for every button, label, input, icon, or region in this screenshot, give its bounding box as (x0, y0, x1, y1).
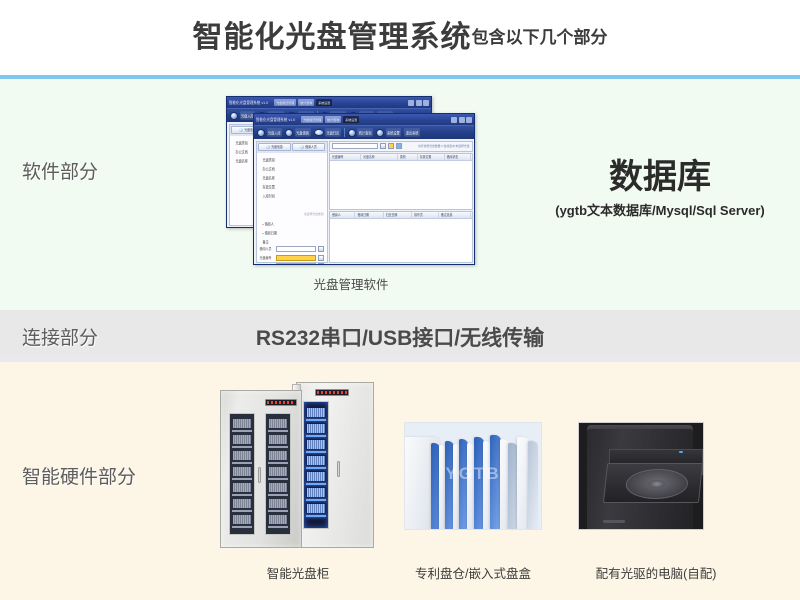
location-field[interactable] (276, 263, 316, 265)
app-window-front[interactable]: 智能化光盘管理系统 v1.0 光盘借还管理 统计查询 系统设置 光盘入库 (253, 113, 475, 265)
toolbar-button-label: 光盘借阅 (295, 128, 311, 136)
database-subtitle: (ygtb文本数据库/Mysql/Sql Server) (520, 200, 800, 219)
list-item[interactable]: 光盘名称 (263, 174, 324, 180)
toolbar-button-disc-borrow[interactable]: 光盘借阅 (285, 129, 310, 137)
window-body: 光盘信息 借阅人员 光盘类别 办公文档 光盘名称 存放位置 入库时间 请选择 (254, 139, 474, 264)
toolbar-button-label: 统计查询 (357, 128, 373, 136)
disc-number-field[interactable] (276, 255, 316, 261)
watermark-text: YGTB (445, 464, 500, 484)
search-icon[interactable] (380, 143, 386, 149)
picker-button[interactable] (318, 263, 324, 265)
borrower-field[interactable] (276, 246, 316, 252)
window-controls (451, 117, 472, 123)
column-header: 操作员 (412, 212, 439, 219)
list-item[interactable]: 入库时间 (263, 193, 324, 199)
disc-tray-unit (528, 441, 538, 529)
optical-drive-tray (603, 463, 703, 503)
window-tab-selected[interactable]: 系统设置 (316, 99, 332, 106)
left-pane-list: 光盘类别 办公文档 光盘名称 存放位置 入库时间 请选择光盘类别 借阅人 借阅日… (257, 153, 327, 245)
gear-icon (376, 129, 384, 137)
window-tab-selected[interactable]: 系统设置 (343, 116, 359, 123)
software-screenshot-stack: 智能化光盘管理系统 v1.0 光盘借还管理 统计查询 系统设置 光盘入库 (226, 96, 476, 268)
form-row: 存放位置 (260, 263, 324, 265)
grid-rows (330, 161, 472, 209)
cabinet-right-body (296, 382, 374, 548)
window-tab[interactable]: 光盘借还管理 (274, 99, 296, 106)
user-icon (300, 145, 304, 149)
window-title-bar: 智能化光盘管理系统 v1.0 光盘借还管理 统计查询 系统设置 (254, 114, 474, 125)
grid-header: 光盘编号 光盘名称 类别 存放位置 借阅状态 (330, 154, 472, 161)
filter-icon[interactable] (388, 143, 394, 149)
left-pane: 光盘信息 借阅人员 光盘类别 办公文档 光盘名称 存放位置 入库时间 请选择 (256, 141, 328, 263)
hardware-caption-tray: 专利盘仓/嵌入式盘盒 (392, 563, 554, 582)
window-tab[interactable]: 统计查询 (298, 99, 314, 106)
left-pane-note: 请选择光盘类别 (304, 212, 324, 216)
disc-icon (266, 145, 270, 149)
disc-hub (648, 480, 665, 488)
maximize-icon[interactable] (416, 100, 422, 106)
cabinet-glass-door-left (229, 413, 255, 535)
column-header: 存放位置 (418, 154, 445, 161)
form-row: 借阅人员 (260, 246, 324, 252)
power-led-icon (679, 451, 683, 453)
left-pane-tab-disc-info[interactable]: 光盘信息 (258, 143, 291, 151)
window-title-bar-back: 智能化光盘管理系统 v1.0 光盘借还管理 统计查询 系统设置 (227, 97, 431, 108)
toolbar-button-stats[interactable]: 统计查询 (348, 129, 373, 137)
cabinet-led-display (315, 389, 349, 396)
window-tabs-back: 光盘借还管理 统计查询 系统设置 (274, 99, 408, 106)
search-info: 共查询到光盘数量:0 当前选中:未选择光盘 (418, 144, 469, 148)
section-label-hardware: 智能硬件部分 (22, 462, 136, 489)
maximize-icon[interactable] (459, 117, 465, 123)
picker-button[interactable] (318, 255, 324, 261)
toolbar-separator (344, 128, 345, 137)
page-subtitle: 包含以下几个部分 (472, 29, 608, 48)
grid-rows-secondary (330, 219, 472, 261)
list-item[interactable]: 办公文档 (263, 165, 324, 171)
close-icon[interactable] (423, 100, 429, 106)
left-pane-tab-label: 借阅人员 (305, 145, 317, 150)
search-input[interactable] (332, 143, 378, 149)
toolbar-button-settings[interactable]: 系统设置 (376, 129, 401, 137)
form-row-label: 光盘编号 (260, 255, 275, 260)
window-tabs: 光盘借还管理 统计查询 系统设置 (301, 116, 451, 123)
toolbar-button-label: 光盘入库 (267, 128, 283, 136)
left-pane-tab-label: 光盘信息 (271, 145, 283, 150)
hardware-caption-cabinet: 智能光盘柜 (218, 563, 378, 582)
section-label-connection: 连接部分 (22, 323, 98, 350)
page-title: 智能化光盘管理系统 (193, 23, 472, 53)
left-pane-extra-label: 备注 (263, 239, 324, 245)
required-field-label: 借阅人 (263, 220, 324, 226)
disc-icon (239, 128, 243, 132)
grid-header-secondary: 借阅人 借阅日期 归还日期 操作员 备注信息 (330, 212, 472, 219)
infographic-page: 智能化光盘管理系统 包含以下几个部分 软件部分 智能化光盘管理系统 v1.0 光… (0, 0, 800, 600)
cabinet-led-display (265, 399, 297, 406)
toolbar-button-exit[interactable]: 退出系统 (404, 129, 420, 136)
toolbar-button-disc-in[interactable]: 光盘入库 (257, 129, 282, 137)
close-icon[interactable] (466, 117, 472, 123)
column-header: 借阅状态 (445, 154, 472, 161)
disc-in-icon (257, 129, 265, 137)
column-header: 借阅日期 (355, 212, 383, 219)
list-item[interactable]: 存放位置 (263, 184, 324, 190)
toolbar-button-label: 系统设置 (386, 128, 402, 136)
disc-return-icon (314, 129, 324, 136)
cabinet-left-body (220, 390, 302, 548)
toolbar-button-label: 光盘归还 (325, 128, 341, 136)
disc-borrow-icon (285, 129, 293, 137)
column-header: 光盘编号 (330, 154, 361, 161)
window-tab[interactable]: 统计查询 (325, 116, 341, 123)
left-pane-form: 借阅人员 光盘编号 存放位置 (257, 244, 327, 265)
minimize-icon[interactable] (451, 117, 457, 123)
picker-button[interactable] (318, 246, 324, 252)
column-header: 备注信息 (439, 212, 472, 219)
stats-icon (348, 129, 356, 137)
form-row-label: 存放位置 (260, 264, 275, 265)
search-bar: 共查询到光盘数量:0 当前选中:未选择光盘 (329, 141, 473, 152)
database-block: 数据库 (ygtb文本数据库/Mysql/Sql Server) (520, 160, 800, 219)
left-pane-tabs: 光盘信息 借阅人员 (257, 142, 327, 153)
cabinet-handle (258, 467, 261, 483)
disc-tray-image: YGTB (404, 422, 542, 530)
form-row: 光盘编号 (260, 255, 324, 261)
borrow-history-grid[interactable]: 借阅人 借阅日期 归还日期 操作员 备注信息 (329, 211, 473, 262)
disc-cabinet-image (218, 380, 378, 552)
minimize-icon[interactable] (408, 100, 414, 106)
cabinet-handle (337, 461, 340, 477)
cabinet-glass-door-lit (303, 401, 329, 529)
list-item[interactable]: 光盘类别 (263, 156, 324, 162)
form-row-label: 借阅人员 (260, 247, 275, 252)
column-header: 借阅人 (330, 212, 355, 219)
window-tab[interactable]: 光盘借还管理 (301, 116, 323, 123)
computer-image (578, 422, 704, 530)
hardware-caption-computer: 配有光驱的电脑(自配) (566, 563, 746, 582)
page-header: 智能化光盘管理系统 包含以下几个部分 (0, 0, 800, 76)
window-title-text-back: 智能化光盘管理系统 v1.0 (229, 100, 268, 106)
toolbar-button-label: 退出系统 (404, 128, 420, 136)
window-toolbar: 光盘入库 光盘借阅 光盘归还 统计查询 系统设置 (254, 125, 474, 139)
column-header: 光盘名称 (361, 154, 398, 161)
toolbar-button-disc-return[interactable]: 光盘归还 (314, 129, 341, 136)
pc-front-button (603, 520, 625, 523)
toolbar-button[interactable]: 光盘入库 (230, 112, 255, 120)
disc-in-icon (230, 112, 238, 120)
column-header: 归还日期 (384, 212, 412, 219)
left-pane-tab-borrower[interactable]: 借阅人员 (292, 143, 325, 151)
database-title: 数据库 (520, 160, 800, 196)
window-title-text: 智能化光盘管理系统 v1.0 (256, 117, 295, 123)
window-controls-back (408, 100, 429, 106)
connection-text: RS232串口/USB接口/无线传输 (200, 322, 600, 352)
right-pane: 共查询到光盘数量:0 当前选中:未选择光盘 光盘编号 光盘名称 类别 存放位置 … (329, 141, 473, 263)
disc-results-grid[interactable]: 光盘编号 光盘名称 类别 存放位置 借阅状态 (329, 153, 473, 210)
required-field-label: 借阅日期 (263, 229, 324, 235)
disc-seat (624, 469, 689, 499)
column-header: 类别 (398, 154, 418, 161)
refresh-icon[interactable] (396, 143, 402, 149)
section-label-software: 软件部分 (22, 157, 98, 184)
cabinet-glass-door-right (265, 413, 291, 535)
software-screenshot-caption: 光盘管理软件 (226, 274, 476, 293)
